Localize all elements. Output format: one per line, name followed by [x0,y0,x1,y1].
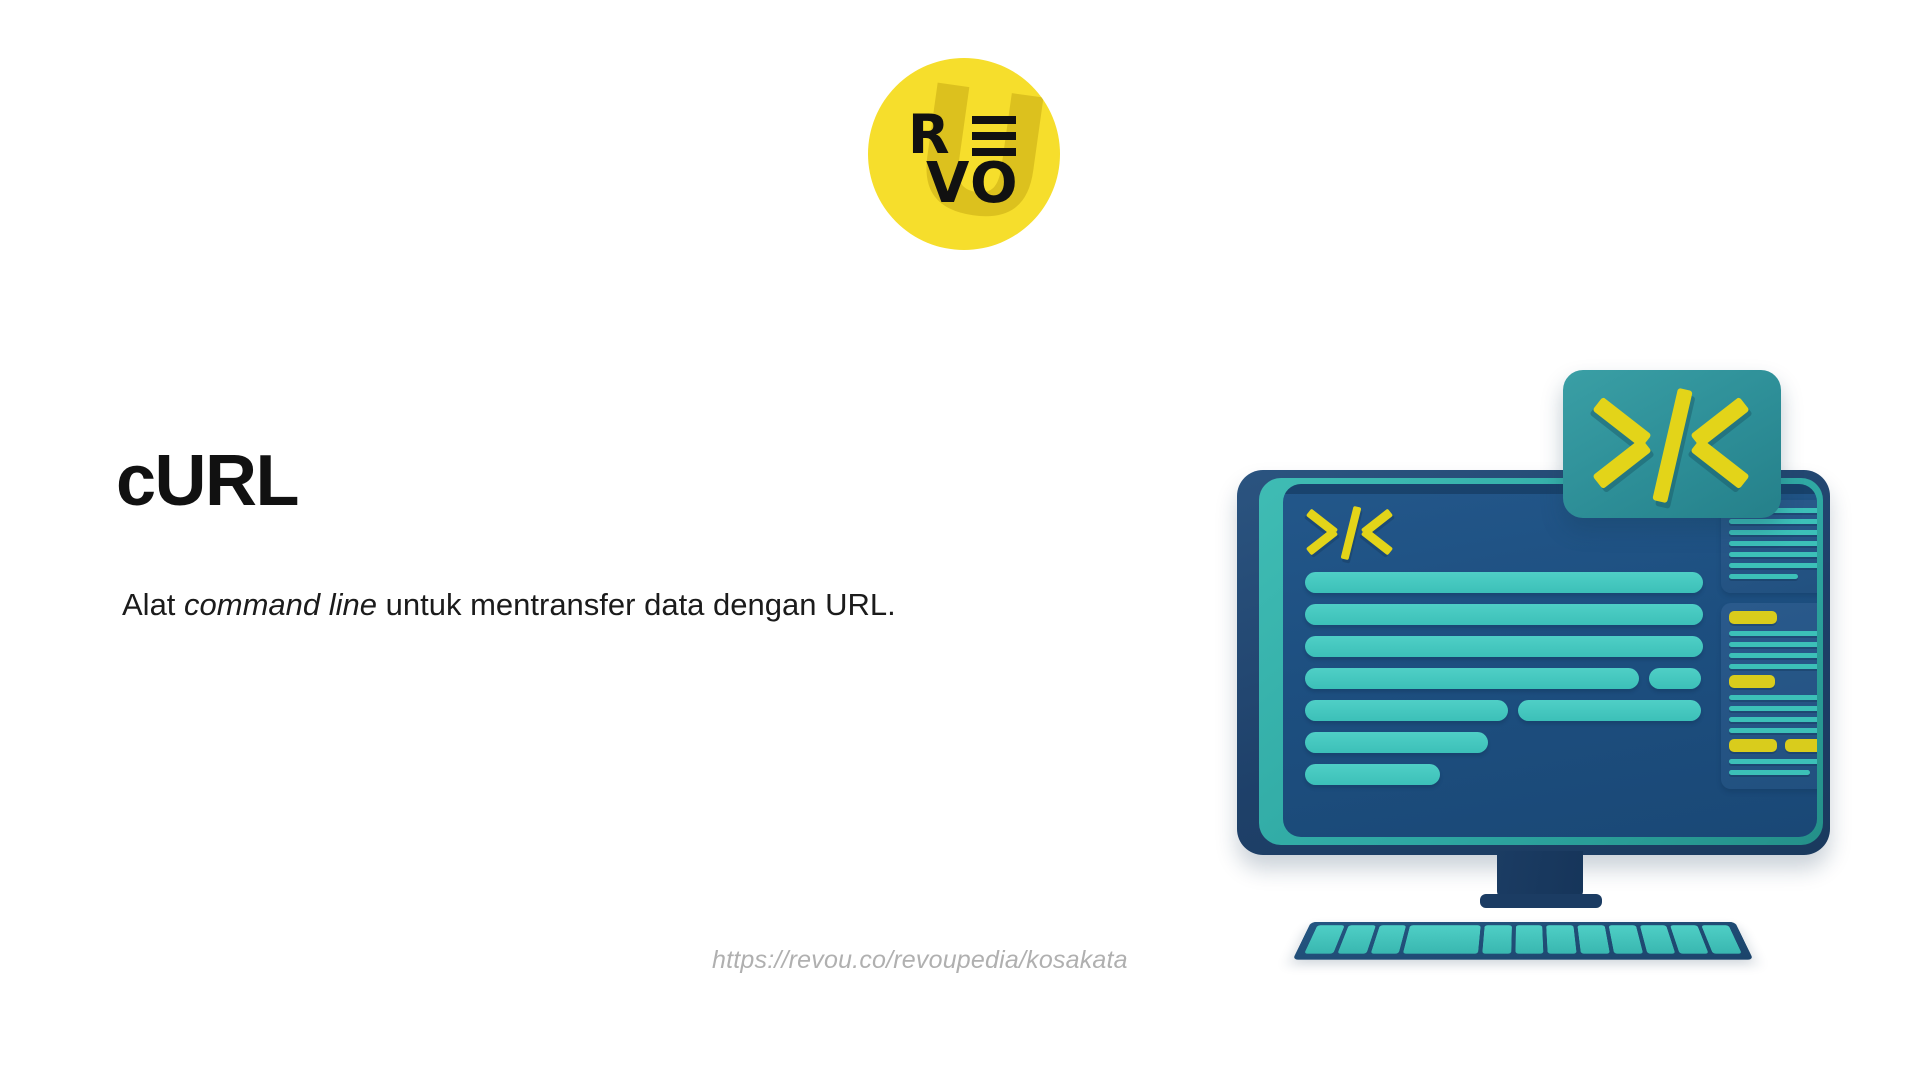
floating-code-badge [1563,370,1781,518]
logo-bars-icon [972,116,1016,156]
logo-letter-v: V [926,156,969,212]
subtitle-emphasis: command line [184,587,377,622]
keyboard [1293,922,1754,960]
monitor-neck [1497,851,1583,899]
screen-code-lines [1305,572,1703,796]
page-subtitle: Alat command line untuk mentransfer data… [122,585,896,625]
screen-sidebar [1721,500,1817,825]
keyboard-keys [1304,925,1742,953]
code-brackets-icon-large [1589,388,1755,500]
monitor-bezel [1237,470,1830,855]
monitor-inner-ring [1259,478,1823,845]
monitor-screen [1283,484,1817,837]
sidebar-panel-bottom [1721,603,1817,789]
subtitle-prefix: Alat [122,587,184,622]
source-url: https://revou.co/revoupedia/kosakata [712,946,1128,975]
coding-monitor-illustration [1225,370,1850,950]
logo-letter-o: O [970,156,1018,212]
monitor-foot [1480,894,1602,908]
revou-logo: U R V O [868,58,1060,250]
code-brackets-icon [1305,506,1401,558]
subtitle-suffix: untuk mentransfer data dengan URL. [377,587,896,622]
page-title: cURL [116,445,298,517]
